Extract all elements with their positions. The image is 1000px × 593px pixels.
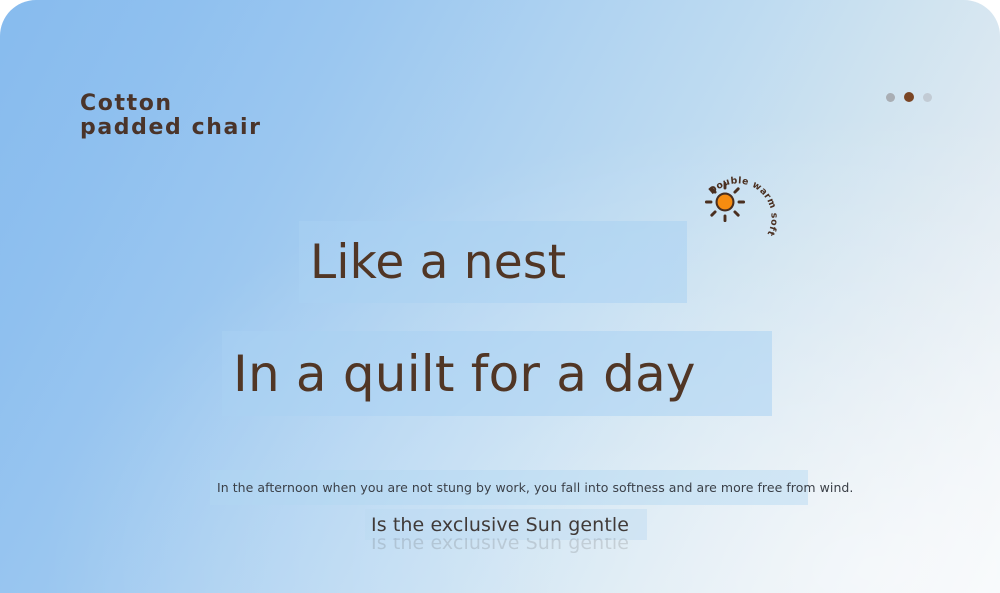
headline-primary: Like a nest: [299, 221, 687, 303]
tagline-wrapper: Is the exclusive Sun gentle Is the exclu…: [365, 509, 647, 593]
carousel-pagination[interactable]: [886, 92, 932, 102]
sun-badge: Double warm soft: [697, 174, 779, 256]
tagline-ghost-text: Is the exclusive Sun gentle: [371, 538, 647, 554]
headline-secondary: In a quilt for a day: [222, 331, 772, 416]
pagination-dot-1[interactable]: [886, 93, 895, 102]
copy-stack: Like a nest In a quilt for a day In the …: [0, 0, 1000, 593]
subcopy-paragraph: In the afternoon when you are not stung …: [210, 470, 808, 505]
pagination-dot-2-active[interactable]: [904, 92, 914, 102]
tagline-text: Is the exclusive Sun gentle: [365, 509, 647, 540]
page-title: Cotton padded chair: [80, 92, 262, 141]
pagination-dot-3[interactable]: [923, 93, 932, 102]
brand-title-line-1: Cotton: [80, 92, 262, 116]
promo-banner-root: Cotton padded chair: [0, 0, 1000, 593]
brand-title-line-2: padded chair: [80, 116, 262, 140]
hero-card: Cotton padded chair: [0, 0, 1000, 593]
